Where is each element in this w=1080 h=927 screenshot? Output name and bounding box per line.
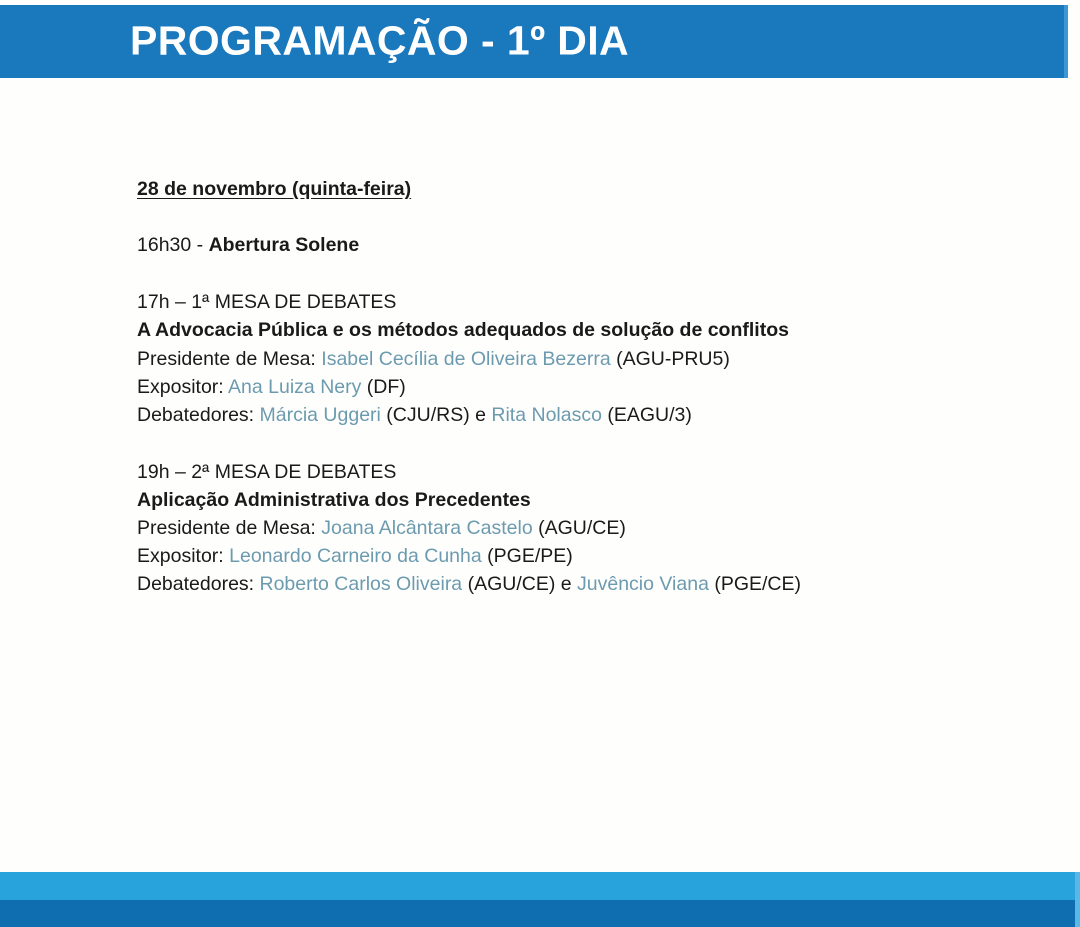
session-title: A Advocacia Pública e os métodos adequad… xyxy=(137,316,997,344)
session-role-row: Presidente de Mesa: Joana Alcântara Cast… xyxy=(137,514,997,542)
session-block: 17h – 1ª MESA DE DEBATES A Advocacia Púb… xyxy=(137,288,997,428)
person-name[interactable]: Isabel Cecília de Oliveira Bezerra xyxy=(321,348,610,370)
role-label: Debatedores: xyxy=(137,573,260,595)
role-label: Presidente de Mesa: xyxy=(137,517,321,539)
session-block: 19h – 2ª MESA DE DEBATES Aplicação Admin… xyxy=(137,458,997,598)
spacer xyxy=(137,202,997,231)
date-heading: 28 de novembro (quinta-feira) xyxy=(137,176,997,202)
person-name[interactable]: Roberto Carlos Oliveira xyxy=(260,573,463,595)
role-label: Presidente de Mesa: xyxy=(137,348,321,370)
footer-band-dark xyxy=(0,900,1075,927)
role-label: Expositor: xyxy=(137,545,229,567)
role-label: Debatedores: xyxy=(137,404,260,426)
person-affiliation: (AGU/CE) e xyxy=(462,573,577,595)
footer-right-edge xyxy=(1075,872,1080,927)
person-affiliation: (DF) xyxy=(361,376,405,398)
session-role-row: Debatedores: Márcia Uggeri (CJU/RS) e Ri… xyxy=(137,401,997,429)
session-title: Aplicação Administrativa dos Precedentes xyxy=(137,486,997,514)
spacer xyxy=(137,259,997,288)
person-affiliation: (AGU-PRU5) xyxy=(611,348,730,370)
session-role-row: Expositor: Leonardo Carneiro da Cunha (P… xyxy=(137,542,997,570)
session-role-row: Presidente de Mesa: Isabel Cecília de Ol… xyxy=(137,345,997,373)
session-heading: 19h – 2ª MESA DE DEBATES xyxy=(137,458,997,486)
spacer xyxy=(137,429,997,458)
programme-content: 28 de novembro (quinta-feira) 16h30 - Ab… xyxy=(137,176,997,598)
footer-band-light xyxy=(0,872,1075,900)
person-name[interactable]: Juvêncio Viana xyxy=(577,573,709,595)
person-name[interactable]: Márcia Uggeri xyxy=(260,404,381,426)
opening-ceremony-line: 16h30 - Abertura Solene xyxy=(137,231,997,259)
person-affiliation: (PGE/CE) xyxy=(709,573,801,595)
session-role-row: Debatedores: Roberto Carlos Oliveira (AG… xyxy=(137,570,997,598)
person-affiliation: (PGE/PE) xyxy=(482,545,573,567)
person-name[interactable]: Leonardo Carneiro da Cunha xyxy=(229,545,482,567)
opening-title: Abertura Solene xyxy=(209,234,360,256)
person-affiliation: (AGU/CE) xyxy=(533,517,626,539)
person-affiliation: (EAGU/3) xyxy=(602,404,692,426)
page-title: PROGRAMAÇÃO - 1º DIA xyxy=(130,20,629,61)
header-banner: PROGRAMAÇÃO - 1º DIA xyxy=(0,5,1068,78)
person-name[interactable]: Ana Luiza Nery xyxy=(228,376,361,398)
opening-time: 16h30 - xyxy=(137,234,209,256)
person-name[interactable]: Joana Alcântara Castelo xyxy=(321,517,532,539)
role-label: Expositor: xyxy=(137,376,228,398)
person-affiliation: (CJU/RS) e xyxy=(381,404,492,426)
person-name[interactable]: Rita Nolasco xyxy=(491,404,602,426)
session-heading: 17h – 1ª MESA DE DEBATES xyxy=(137,288,997,316)
session-role-row: Expositor: Ana Luiza Nery (DF) xyxy=(137,373,997,401)
